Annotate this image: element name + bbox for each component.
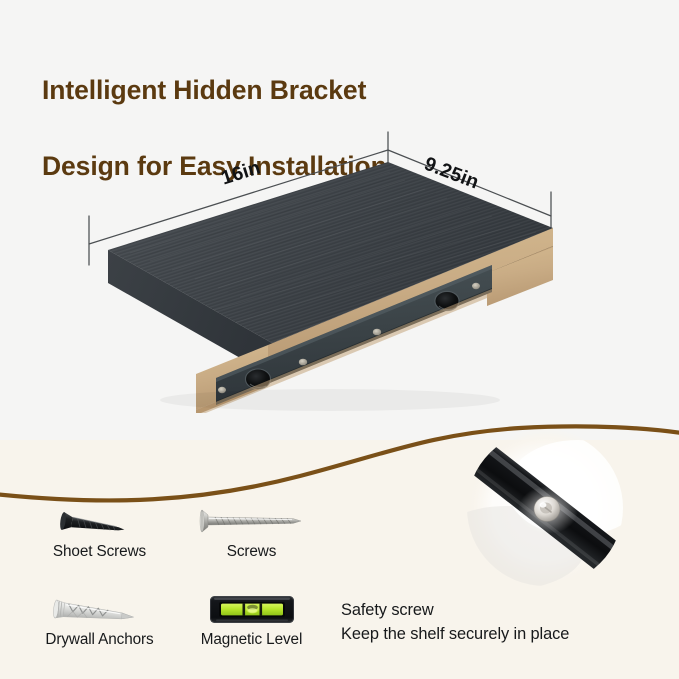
bracket-screw <box>299 359 307 366</box>
infographic-canvas: Intelligent Hidden Bracket Design for Ea… <box>0 0 679 679</box>
drywall-anchor-icon <box>32 588 167 630</box>
bracket-screw <box>373 329 381 336</box>
short-black-screw-icon <box>32 500 167 542</box>
long-screw-shape <box>200 510 301 532</box>
accessory-label: Drywall Anchors <box>45 631 153 649</box>
accessory-item: Drywall Anchors <box>22 588 177 668</box>
accessory-item: Screws <box>174 500 329 580</box>
accessory-label: Shoet Screws <box>53 543 146 561</box>
safety-screw-inset <box>427 428 667 603</box>
safety-screw-inset-svg <box>427 428 667 603</box>
shelf-shadow <box>160 389 500 411</box>
accessory-item: Magnetic Level <box>174 588 329 668</box>
magnetic-level-icon <box>184 588 319 630</box>
accessories-grid: Shoet Screws <box>14 500 334 662</box>
short-screw-shape <box>59 512 125 539</box>
inset-photo-content <box>429 431 647 590</box>
long-silver-screw-icon <box>184 500 319 542</box>
level-shape <box>210 596 294 623</box>
accessory-label: Magnetic Level <box>201 631 303 649</box>
accessory-item: Shoet Screws <box>22 500 177 580</box>
shelf-svg <box>0 128 600 413</box>
product-illustration <box>0 128 600 413</box>
safety-screw-caption: Safety screw Keep the shelf securely in … <box>341 598 671 646</box>
safety-caption-line-2: Keep the shelf securely in place <box>341 622 671 646</box>
anchor-shape <box>53 600 135 626</box>
bracket-screw <box>472 283 480 289</box>
accessory-label: Screws <box>227 543 277 561</box>
safety-caption-line-1: Safety screw <box>341 598 671 622</box>
safety-screw-head <box>534 497 560 522</box>
page-title-line-1: Intelligent Hidden Bracket <box>42 71 642 109</box>
